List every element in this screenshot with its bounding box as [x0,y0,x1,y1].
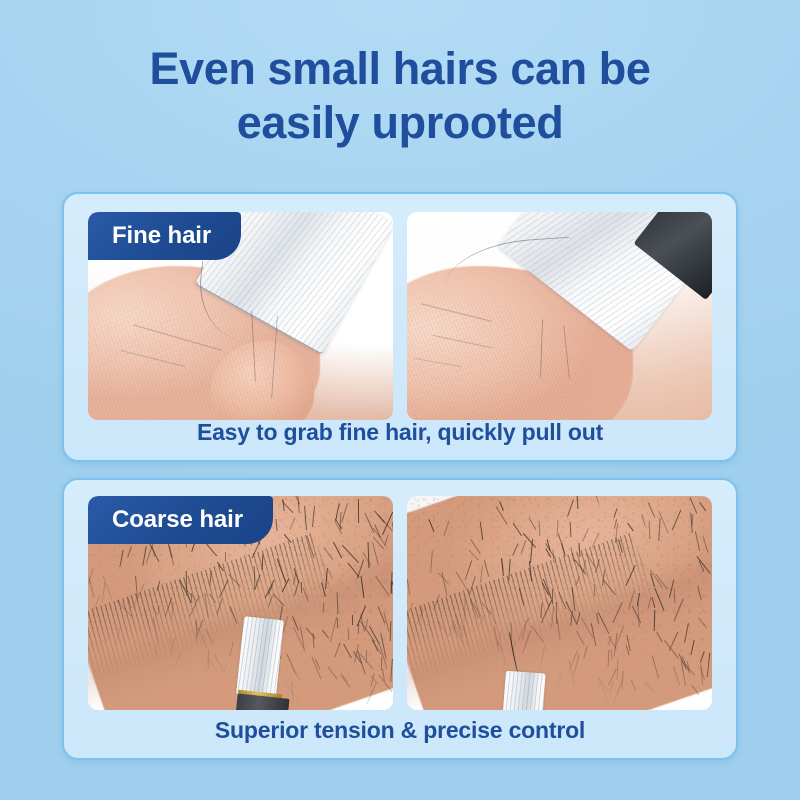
coarse-stubble-field [407,496,712,710]
photo-fine-hair-grip [407,212,712,420]
caption-coarse-hair: Superior tension & precise control [64,717,736,744]
feature-card-fine-hair: Fine hair Easy to grab fine hair, quickl… [62,192,738,462]
badge-coarse-hair: Coarse hair [88,496,273,544]
tweezer-tip-icon [236,616,284,698]
promo-image-root: Even small hairs can be easily uprooted … [0,0,800,800]
photo-coarse-hair-plucked [407,496,712,710]
badge-label: Fine hair [112,222,211,250]
feature-card-coarse-hair: Coarse hair Superior tension & precise c… [62,478,738,760]
photo-row-coarse: Coarse hair [88,496,712,710]
badge-label: Coarse hair [112,506,243,534]
badge-fine-hair: Fine hair [88,212,241,260]
caption-fine-hair: Easy to grab fine hair, quickly pull out [64,419,736,446]
photo-row-fine: Fine hair [88,212,712,420]
page-title: Even small hairs can be easily uprooted [0,42,800,149]
headline-line-2: easily uprooted [0,96,800,150]
photo-coarse-hair-approach: Coarse hair [88,496,393,710]
tweezer-tip-icon [500,671,545,710]
headline-line-1: Even small hairs can be [149,43,650,94]
photo-fine-hair-approach: Fine hair [88,212,393,420]
